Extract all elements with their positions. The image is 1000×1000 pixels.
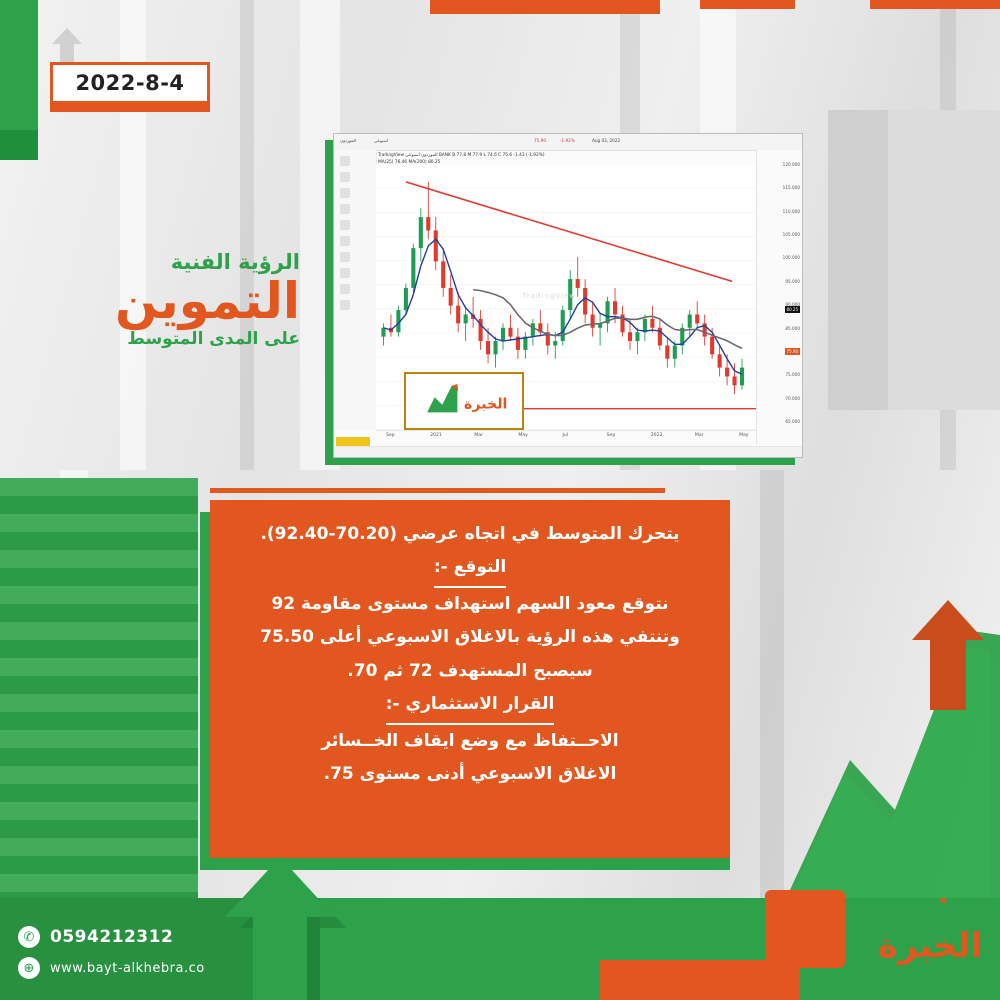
analysis-line: نتوقع معود السهم استهداف مستوى مقاومة 92 [236,588,704,621]
chart-bottom-bar[interactable] [334,446,802,457]
panel-top-accent [210,488,665,493]
chart-legend-line1: TradingView الموردون اسبوعي BANK B 77.8 … [378,153,545,158]
top-accent-bar-2 [700,0,795,9]
magnet-tool-icon[interactable] [340,252,350,262]
chart-date: Aug 03, 2022 [592,138,620,143]
brand-sub-ar: بيت [878,965,982,978]
chart-y-axis[interactable]: 120.000115.000110.000105.000100.00095.00… [756,150,802,445]
x-tick-label: Mar [474,433,483,438]
footer-contact: ✆ 0594212312 ⊕ www.bayt-alkhebra.co [18,926,205,988]
analysis-panel: يتحرك المتوسط في اتجاه عرضي (70.20-92.40… [210,500,730,858]
text-tool-icon[interactable] [340,220,350,230]
y-tick-label: 115.000 [783,185,800,190]
top-accent-bar [430,0,660,14]
chart-card: الموردون اسبوعي 75.90 -1.92% Aug 03, 202… [333,133,803,458]
globe-icon: ⊕ [18,957,40,979]
headline-line2: التموين [115,275,300,328]
analysis-text: يتحرك المتوسط في اتجاه عرضي (70.20-92.40… [210,500,730,858]
chart-x-axis[interactable]: Sep2021MarMayJulSep2022MarMay [376,430,757,447]
chart-change: -1.92% [560,138,575,143]
date-badge-underline [50,104,210,112]
headline-group: الرؤية الفنية التموين على المدى المتوسط [115,250,300,350]
y-tick-label: 70.000 [785,396,800,401]
svg-text:الخبرة: الخبرة [464,397,507,413]
chart-last-price: 75.90 [534,138,546,143]
date-badge-label: 2022-8-4 [75,71,184,95]
y-tick-label: 105.000 [783,232,800,237]
analysis-line: القرار الاستثماري -: [236,688,704,725]
shapes-tool-icon[interactable] [340,204,350,214]
x-tick-label: 2022 [651,433,663,438]
right-panel-block-inner [828,110,888,410]
brand-logo: الخبرة بيت [878,897,982,978]
price-tag-current: 75.90 [785,348,800,355]
analysis-line: التوقع -: [236,551,704,588]
left-green-block [0,0,38,130]
lock-tool-icon[interactable] [340,268,350,278]
y-tick-label: 85.000 [785,326,800,331]
cursor-tool-icon[interactable] [340,156,350,166]
left-green-block-lower [0,130,38,160]
x-tick-label: Sep [607,433,616,438]
x-tick-label: Sep [386,433,395,438]
top-accent-bar-3 [870,0,1000,9]
y-tick-label: 75.000 [785,372,800,377]
x-tick-label: 2021 [430,433,442,438]
eye-tool-icon[interactable] [340,284,350,294]
brand-chart-arrow-icon [913,897,947,927]
chart-watermark: TradingView [523,292,576,300]
poster-root: 2022-8-4 الرؤية الفنية التموين على المدى… [0,0,1000,1000]
trendline-tool-icon[interactable] [340,172,350,182]
y-tick-label: 120.000 [783,162,800,167]
trash-tool-icon[interactable] [340,300,350,310]
chart-toolbar[interactable]: الموردون اسبوعي 75.90 -1.92% Aug 03, 202… [334,134,802,151]
y-tick-label: 110.000 [783,209,800,214]
y-tick-label: 65.000 [785,419,800,424]
price-tag-ma: 80.25 [785,306,800,313]
analysis-line-underlined: التوقع -: [434,551,506,588]
analysis-line: سيصبح المستهدف 72 ثم 70. [236,655,704,688]
date-badge: 2022-8-4 [50,62,210,104]
orange-arrow-icon [900,600,990,710]
measure-tool-icon[interactable] [340,236,350,246]
contact-phone: 0594212312 [50,927,173,947]
chart-inner: الموردون اسبوعي 75.90 -1.92% Aug 03, 202… [334,134,802,457]
bg-streak [760,470,784,900]
chart-logo-overlay: الخبرة [404,372,524,430]
chart-timeframe: اسبوعي [374,138,388,143]
x-tick-label: May [518,433,528,438]
analysis-line: وتنتفي هذه الرؤية بالاغلاق الاسبوعي أعلى… [236,621,704,654]
bg-streak [240,0,254,470]
footer-orange-square [765,890,845,968]
y-tick-label: 95.000 [785,279,800,284]
chart-symbol: الموردون [340,138,356,143]
analysis-line: الاحــتفاظ مع وضع ايقاف الخــسائر [236,725,704,758]
headline-line3: على المدى المتوسط [115,328,300,350]
big-up-arrow-icon [205,855,355,1000]
chart-status-tab[interactable] [336,437,370,446]
x-tick-label: May [739,433,749,438]
bottom-left-green-texture [0,478,198,898]
brand-name-ar: الخبرة [878,929,982,963]
analysis-line-underlined: القرار الاستثماري -: [386,688,555,725]
x-tick-label: Mar [695,433,704,438]
whatsapp-icon: ✆ [18,926,40,948]
contact-row-phone[interactable]: ✆ 0594212312 [18,926,205,948]
brand-logo-icon: الخبرة [412,380,516,422]
y-tick-label: 100.000 [783,255,800,260]
contact-website: www.bayt-alkhebra.co [50,961,205,976]
analysis-line: يتحرك المتوسط في اتجاه عرضي (70.20-92.40… [236,518,704,551]
chart-left-toolbar[interactable] [334,150,377,429]
contact-row-website[interactable]: ⊕ www.bayt-alkhebra.co [18,957,205,979]
x-tick-label: Jul [563,433,569,438]
fib-tool-icon[interactable] [340,188,350,198]
analysis-line: الاغلاق الاسبوعي أدنى مستوى 75. [236,758,704,791]
